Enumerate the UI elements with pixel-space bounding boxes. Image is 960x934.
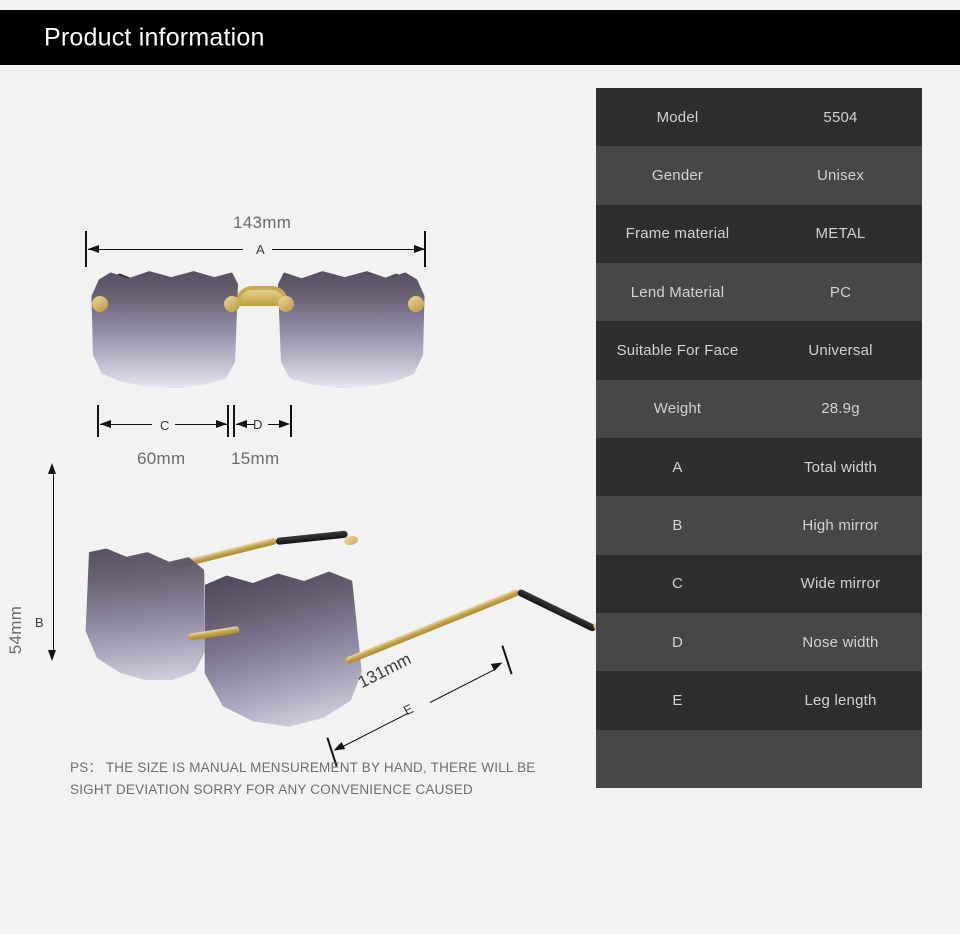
spec-value: Unisex xyxy=(759,167,922,184)
dimension-line-a-right xyxy=(272,249,425,250)
lens-right xyxy=(278,270,426,388)
arm-tip-back xyxy=(343,535,358,546)
height-value: 54mm xyxy=(6,606,26,654)
spec-table: Model5504 GenderUnisex Frame materialMET… xyxy=(596,88,922,788)
spec-key: Weight xyxy=(596,400,759,417)
dimension-letter-d: D xyxy=(253,417,262,432)
table-row: Lend MaterialPC xyxy=(596,263,922,321)
arrow-right-icon xyxy=(279,420,290,428)
arrow-right-icon xyxy=(216,420,227,428)
table-row: GenderUnisex xyxy=(596,146,922,204)
table-row: BHigh mirror xyxy=(596,496,922,554)
arrow-right-icon xyxy=(414,245,425,253)
page-title: Product information xyxy=(44,23,265,52)
spec-key: B xyxy=(596,517,759,534)
hinge-inner-right xyxy=(278,296,294,312)
table-row: Suitable For FaceUniversal xyxy=(596,321,922,379)
spec-value: 28.9g xyxy=(759,400,922,417)
spec-value: PC xyxy=(759,284,922,301)
dimension-letter-b: B xyxy=(35,615,44,630)
nose-width-value: 15mm xyxy=(231,449,279,469)
spec-value: Leg length xyxy=(759,692,922,709)
dimension-letter-a: A xyxy=(256,242,265,257)
dimension-letter-c: C xyxy=(160,418,169,433)
spec-value: Total width xyxy=(759,459,922,476)
sunglasses-side-image xyxy=(60,530,520,730)
dimension-tick-a-left xyxy=(85,231,87,267)
spec-value: 5504 xyxy=(759,109,922,126)
table-row: CWide mirror xyxy=(596,555,922,613)
lens-left xyxy=(90,270,238,388)
arrow-left-icon xyxy=(88,245,99,253)
lens-back xyxy=(79,546,211,686)
spec-key: Suitable For Face xyxy=(596,342,759,359)
spec-value: Wide mirror xyxy=(759,575,922,592)
spec-key: A xyxy=(596,459,759,476)
table-row xyxy=(596,730,922,788)
spec-key: Model xyxy=(596,109,759,126)
table-row: ELeg length xyxy=(596,671,922,729)
spec-key: E xyxy=(596,692,759,709)
spec-key: D xyxy=(596,634,759,651)
spec-key: C xyxy=(596,575,759,592)
dimension-line-a-left xyxy=(88,249,243,250)
arrow-left-icon xyxy=(332,742,345,754)
table-row: DNose width xyxy=(596,613,922,671)
arrow-left-icon xyxy=(236,420,247,428)
spec-value: METAL xyxy=(759,225,922,242)
hinge-outer-right xyxy=(408,296,424,312)
dimension-tick-c-right xyxy=(227,405,229,437)
spec-value: Nose width xyxy=(759,634,922,651)
spec-value: Universal xyxy=(759,342,922,359)
arm-black-back xyxy=(276,530,348,544)
table-row: Model5504 xyxy=(596,88,922,146)
table-row: Frame materialMETAL xyxy=(596,205,922,263)
dimension-line-b xyxy=(53,473,54,650)
total-width-value: 143mm xyxy=(233,213,291,233)
spec-value: High mirror xyxy=(759,517,922,534)
disclaimer-note: PS： THE SIZE IS MANUAL MENSUREMENT BY HA… xyxy=(70,757,540,801)
header-bar: Product information xyxy=(0,10,960,65)
table-row: Weight28.9g xyxy=(596,380,922,438)
hinge-inner-left xyxy=(224,296,240,312)
lens-front xyxy=(195,567,365,733)
table-row: ATotal width xyxy=(596,438,922,496)
front-view-diagram: 143mm A C 60mm xyxy=(0,65,580,445)
spec-key: Lend Material xyxy=(596,284,759,301)
arrow-left-icon xyxy=(100,420,111,428)
dimension-tick-c-left xyxy=(97,405,99,437)
arm-gold-front xyxy=(345,589,520,665)
hinge-outer-left xyxy=(92,296,108,312)
spec-key: Frame material xyxy=(596,225,759,242)
lens-width-value: 60mm xyxy=(137,449,185,469)
sunglasses-front-image xyxy=(88,260,428,395)
dimension-tick-d-right xyxy=(290,405,292,437)
dimension-tick-d-left xyxy=(233,405,235,437)
spec-key: Gender xyxy=(596,167,759,184)
arrow-down-icon xyxy=(48,650,56,661)
diagram-panel: 143mm A C 60mm xyxy=(0,65,580,934)
arm-black-front xyxy=(516,588,596,632)
